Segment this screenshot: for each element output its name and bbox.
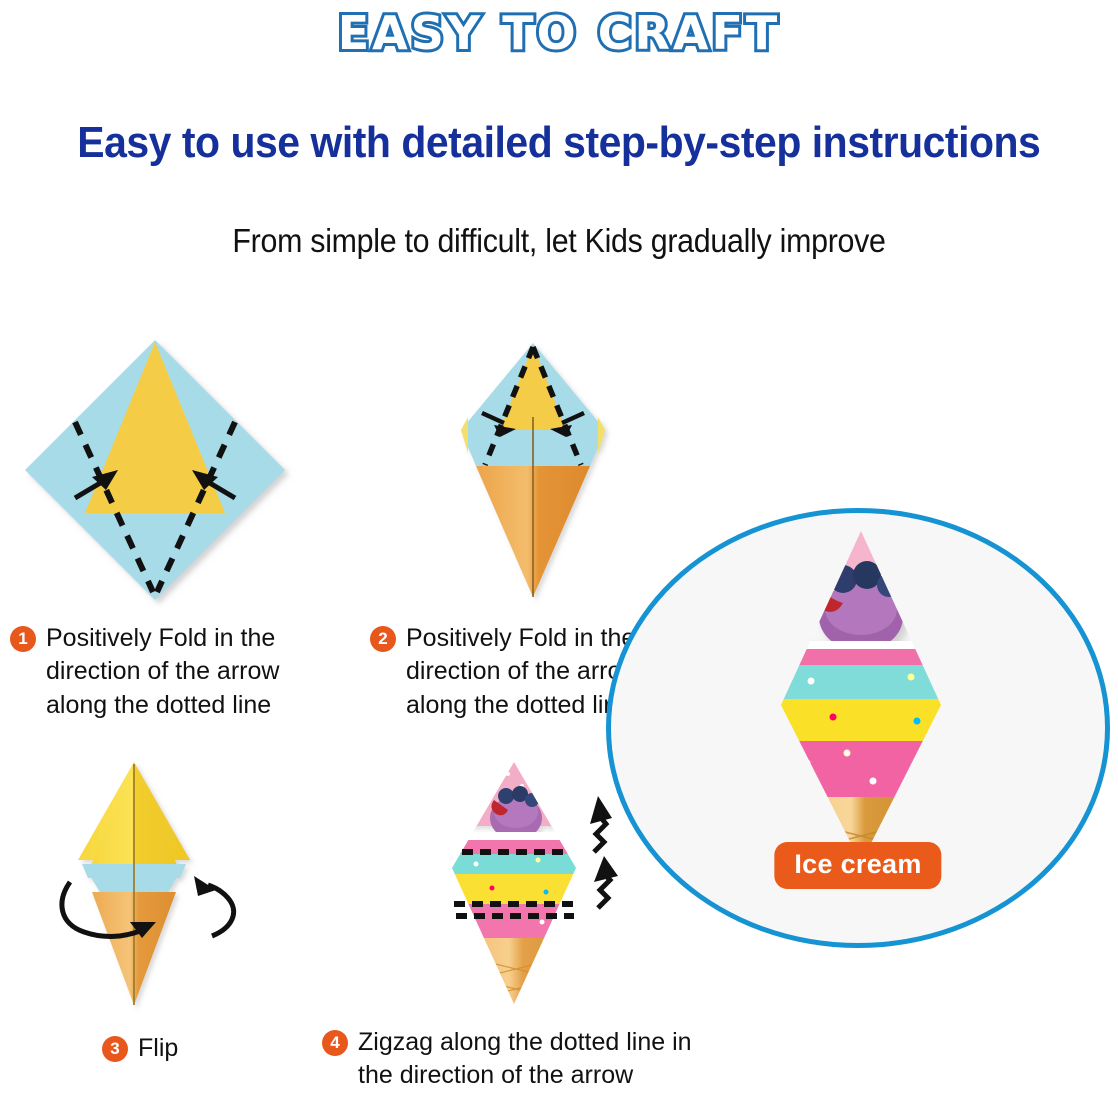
flip-arrow-right xyxy=(208,885,234,936)
paper-edge-right xyxy=(598,417,605,453)
step-3-diagram xyxy=(62,752,262,1017)
step-2-badge: 2 xyxy=(370,626,396,652)
step-2-diagram xyxy=(438,335,628,605)
page-title: EASY TO CRAFT xyxy=(338,6,781,60)
step-4-caption: 4 Zigzag along the dotted line in the di… xyxy=(322,1026,752,1093)
tagline-container: From simple to difficult, let Kids gradu… xyxy=(0,222,1118,260)
step-4-text: Zigzag along the dotted line in the dire… xyxy=(358,1026,692,1093)
paper-edge-left xyxy=(461,417,468,453)
page-tagline: From simple to difficult, let Kids gradu… xyxy=(232,222,885,260)
step-2-text: Positively Fold in the direction of the … xyxy=(406,622,639,722)
step-3-caption: 3 Flip xyxy=(102,1032,322,1065)
step-3-badge: 3 xyxy=(102,1036,128,1062)
page-title-container: EASY TO CRAFT xyxy=(0,6,1118,60)
result-label: Ice cream xyxy=(774,842,941,889)
subtitle-container: Easy to use with detailed step-by-step i… xyxy=(0,118,1118,168)
icecream-paper xyxy=(446,756,586,1026)
step-4-badge: 4 xyxy=(322,1030,348,1056)
result-circle: Ice cream xyxy=(606,508,1110,948)
instruction-sheet: EASY TO CRAFT Easy to use with detailed … xyxy=(0,0,1118,1088)
page-subtitle: Easy to use with detailed step-by-step i… xyxy=(77,118,1040,168)
step-3-text: Flip xyxy=(138,1032,178,1065)
step-1-diagram xyxy=(10,330,300,610)
zigzag-arrow-upper-head xyxy=(590,796,612,824)
step-1-caption: 1 Positively Fold in the direction of th… xyxy=(10,622,330,722)
result-illustration: Ice cream xyxy=(611,513,1105,943)
step-1-text: Positively Fold in the direction of the … xyxy=(46,622,279,722)
step-1-badge: 1 xyxy=(10,626,36,652)
